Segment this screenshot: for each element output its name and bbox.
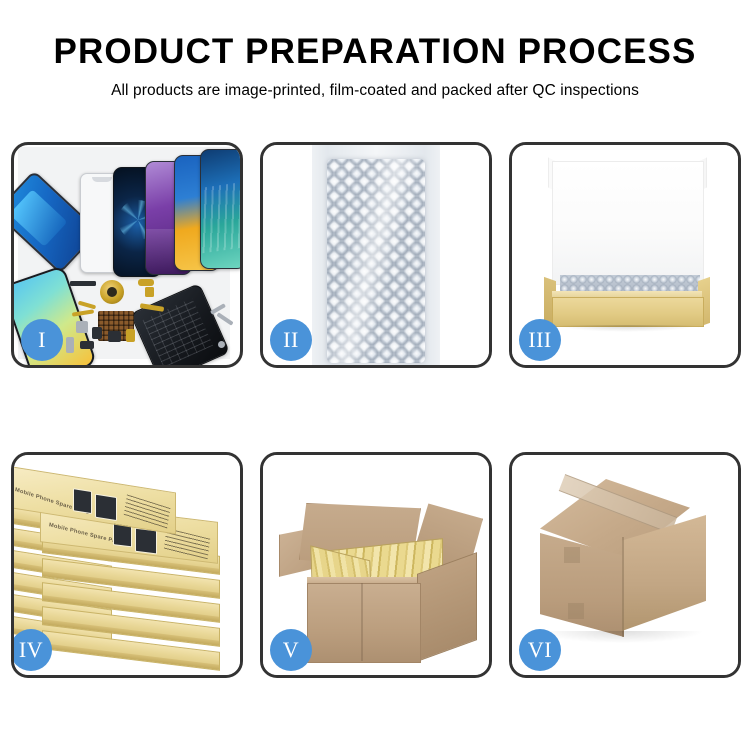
phone-teal-display [200, 149, 240, 269]
process-step-panel-4: Mobile Phone Spare Parts Mobile Phone Sp… [11, 452, 243, 678]
spare-part-gold-chip [126, 329, 135, 342]
bubble-wrapped-product [327, 159, 425, 363]
carton-front-face [307, 583, 421, 663]
process-step-panel-6: VI [509, 452, 741, 678]
step-6-image: VI [512, 455, 738, 675]
step-numeral-badge-6: VI [519, 629, 561, 671]
process-steps-grid: I II III [11, 142, 741, 678]
step-numeral-badge-2: II [270, 319, 312, 361]
spare-part-gold-tab [145, 287, 154, 297]
carton-hand-hole-top [564, 547, 580, 563]
page-subtitle: All products are image-printed, film-coa… [0, 82, 750, 100]
step-numeral-badge-1: I [21, 319, 63, 361]
box-thumbnail-middle-2 [135, 528, 157, 555]
spare-part-camera-module [108, 331, 121, 342]
step-numeral-badge-3: III [519, 319, 561, 361]
speaker-coil-part [100, 280, 124, 304]
carton-hand-hole-bottom [568, 603, 584, 619]
process-step-panel-3: III [509, 142, 741, 368]
spare-part-small-connector [80, 341, 94, 349]
inner-box-white-lid [552, 161, 704, 285]
step-4-image: Mobile Phone Spare Parts Mobile Phone Sp… [14, 455, 240, 675]
inner-box-shadow [556, 325, 698, 332]
spare-part-battery-strip [66, 337, 74, 353]
step-2-image: II [263, 145, 489, 365]
step-numeral-badge-5: V [270, 629, 312, 671]
spare-part-strip [70, 281, 96, 286]
process-step-panel-1: I [11, 142, 243, 368]
inner-box-kraft-front [552, 297, 704, 327]
sealed-carton-shadow [542, 631, 702, 643]
spare-part-silver-square [76, 321, 88, 333]
spare-part-gold-clip [138, 279, 154, 286]
spare-part-dark-chip [92, 327, 102, 339]
step-5-image: V [263, 455, 489, 675]
spare-part-screw [218, 341, 225, 348]
box-thumbnail-top-2 [95, 494, 117, 521]
box-spec-lines-top [124, 494, 171, 529]
sealed-carton-vertical-edge [622, 537, 624, 637]
page-header: PRODUCT PREPARATION PROCESS All products… [0, 0, 750, 100]
box-thumbnail-top-1 [73, 488, 92, 514]
plastic-sheen [327, 159, 425, 363]
step-3-image: III [512, 145, 738, 365]
process-step-panel-2: II [260, 142, 492, 368]
carton-front-seam [361, 583, 363, 661]
process-step-panel-5: V [260, 452, 492, 678]
step-1-image: I [14, 145, 240, 365]
page-title: PRODUCT PREPARATION PROCESS [0, 34, 750, 71]
